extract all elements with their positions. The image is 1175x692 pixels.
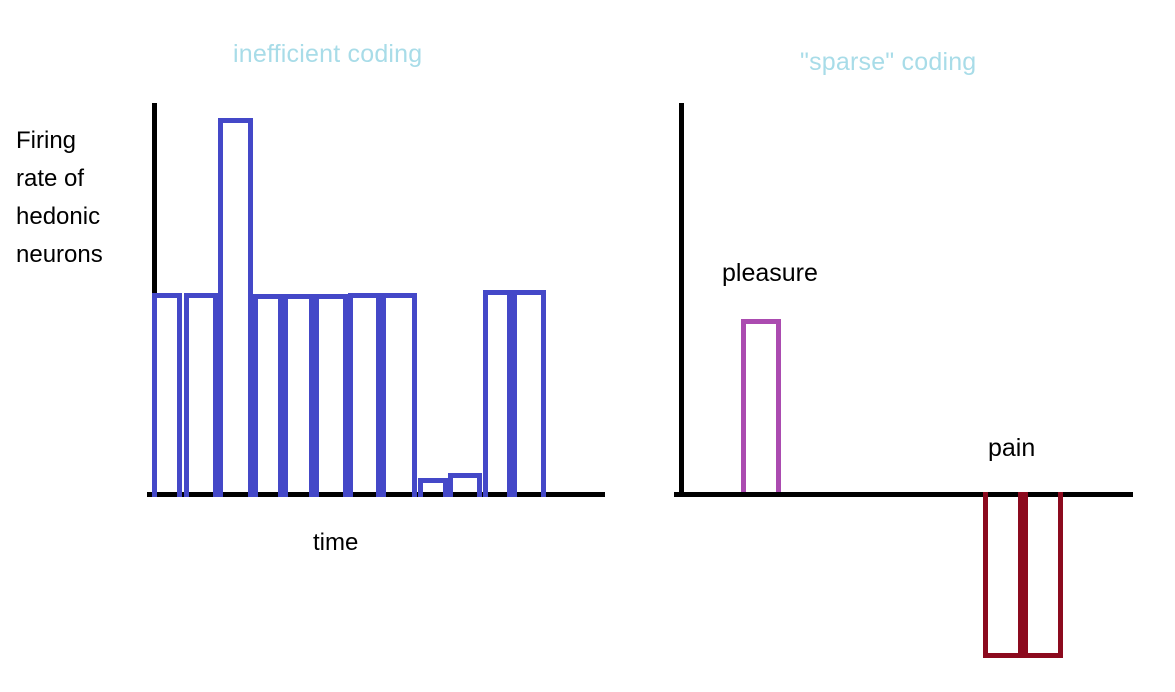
figure-canvas: inefficient coding Firing rate of hedoni… (0, 0, 1175, 692)
bar-pain-3 (1023, 492, 1063, 658)
bar-pleasure-1 (741, 319, 781, 492)
bar-pain-2 (983, 492, 1023, 658)
bars-group-sparse (0, 0, 1175, 692)
